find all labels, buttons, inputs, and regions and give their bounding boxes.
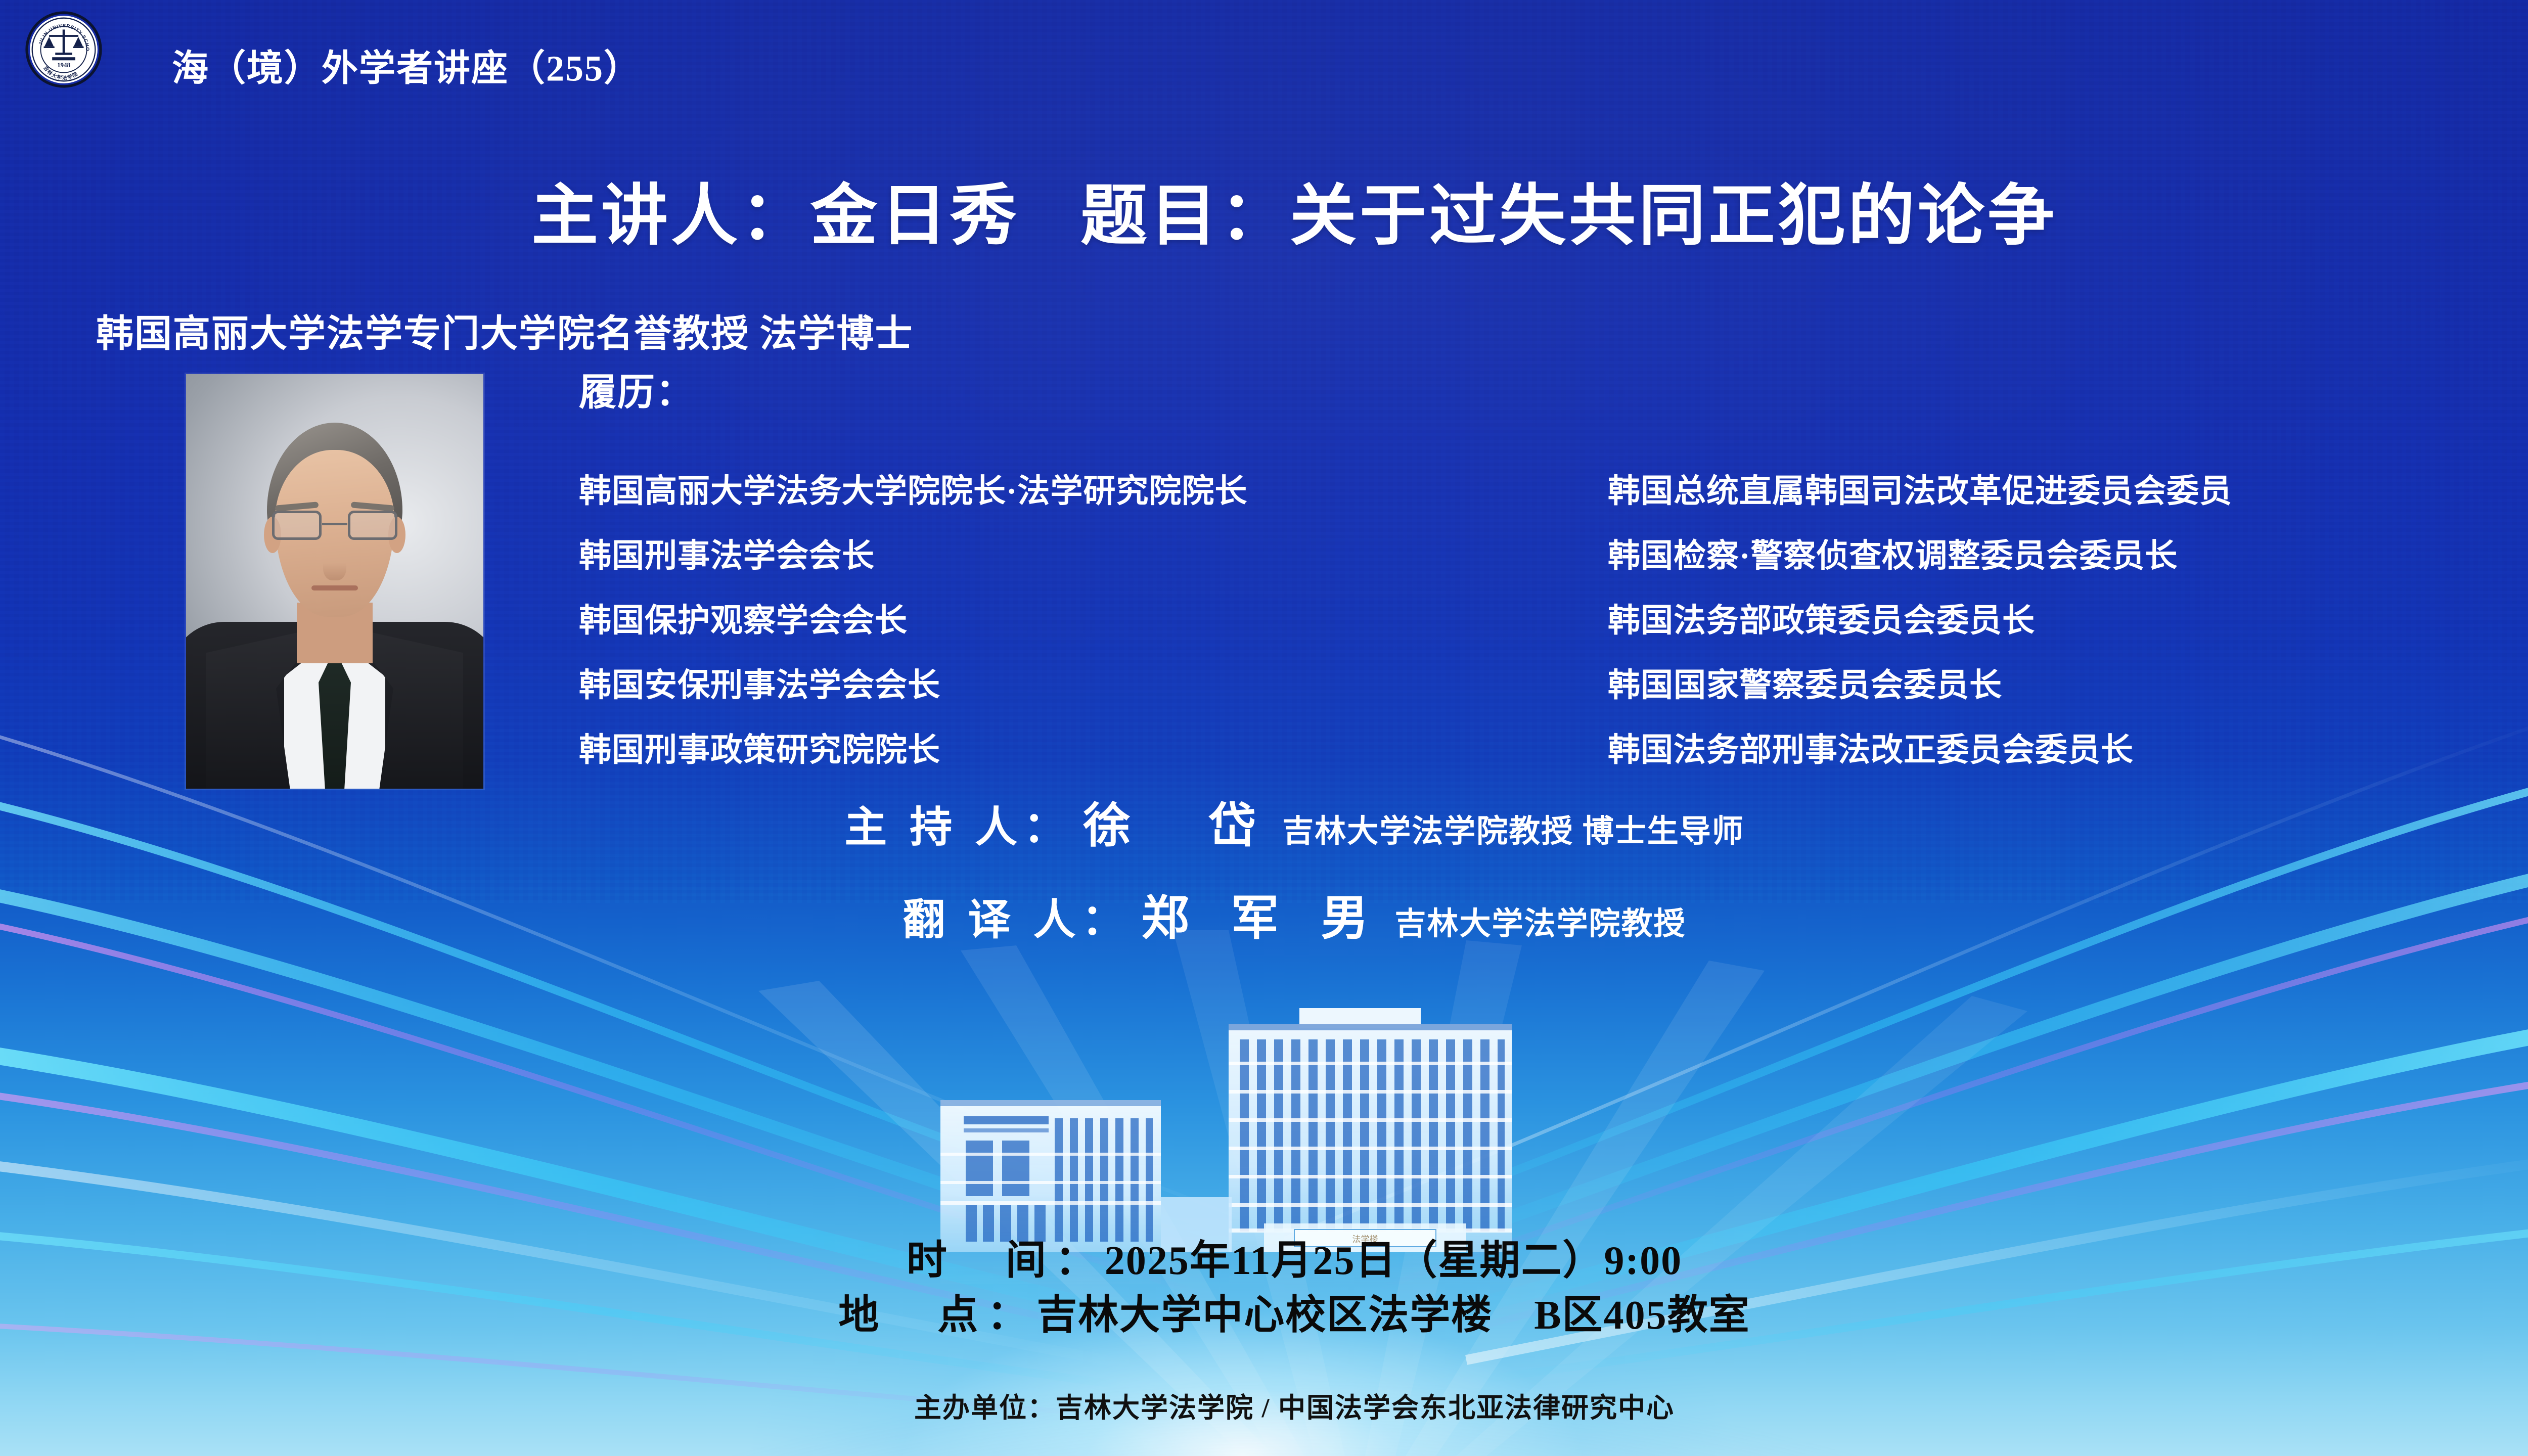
time-label: 时 间： xyxy=(907,1239,1105,1283)
speaker-portrait-photo xyxy=(186,374,483,789)
cv-left-column: 韩国高丽大学法务大学院院长·法学研究院院长 韩国刑事法学会会长 韩国保护观察学会… xyxy=(579,459,1247,783)
translator-label: 翻 译 人： xyxy=(902,897,1130,944)
event-time-line: 时 间：2025年11月25日（星期二）9:00 xyxy=(0,1234,2528,1288)
host-name: 徐 岱 xyxy=(1072,800,1282,852)
translator-affiliation: 吉林大学法学院教授 xyxy=(1395,907,1686,941)
cv-item: 韩国检察·警察侦查权调整委员会委员长 xyxy=(1608,524,2232,588)
translator-row: 翻 译 人：郑 军 男吉林大学法学院教授 xyxy=(0,879,2528,972)
organizer-line: 主办单位：吉林大学法学院 / 中国法学会东北亚法律研究中心 xyxy=(0,1385,2528,1425)
host-row: 主 持 人：徐 岱吉林大学法学院教授 博士生导师 xyxy=(0,787,2528,879)
cv-item: 韩国保护观察学会会长 xyxy=(579,588,1247,653)
speaker-label: 主讲人： xyxy=(531,179,810,253)
place-label: 地 点： xyxy=(838,1293,1036,1338)
translator-name: 郑 军 男 xyxy=(1130,892,1394,945)
svg-text:1948: 1948 xyxy=(57,61,70,69)
cv-item: 韩国高丽大学法务大学院院长·法学研究院院长 xyxy=(579,459,1247,524)
portrait-nose xyxy=(323,551,346,580)
cv-item: 韩国刑事法学会会长 xyxy=(579,524,1247,588)
speaker-affiliation: 韩国高丽大学法学专门大学院名誉教授 法学博士 xyxy=(96,303,914,357)
eyeglasses-icon xyxy=(272,511,397,542)
lecture-series-label: 海（境）外学者讲座（255） xyxy=(172,38,641,92)
cv-item: 韩国国家警察委员会委员长 xyxy=(1608,653,2232,718)
university-seal-logo: JILIN UNIVERSITY SCHOOL OF LAW 吉林大学法学院 1… xyxy=(25,11,102,88)
host-affiliation: 吉林大学法学院教授 博士生导师 xyxy=(1282,814,1744,849)
cv-item: 韩国法务部政策委员会委员长 xyxy=(1608,588,2232,653)
cv-item: 韩国安保刑事法学会会长 xyxy=(579,653,1247,718)
cv-item: 韩国总统直属韩国司法改革促进委员会委员 xyxy=(1608,459,2232,524)
cv-item: 韩国刑事政策研究院院长 xyxy=(579,718,1247,783)
speaker-name: 金日秀 xyxy=(810,179,1020,253)
event-info-block: 时 间：2025年11月25日（星期二）9:00 地 点：吉林大学中心校区法学楼… xyxy=(0,1234,2528,1343)
cv-right-column: 韩国总统直属韩国司法改革促进委员会委员 韩国检察·警察侦查权调整委员会委员长 韩… xyxy=(1608,459,2232,783)
event-place-line: 地 点：吉林大学中心校区法学楼 B区405教室 xyxy=(0,1288,2528,1343)
cv-heading: 履历： xyxy=(579,362,694,416)
roles-block: 主 持 人：徐 岱吉林大学法学院教授 博士生导师 翻 译 人：郑 军 男吉林大学… xyxy=(0,787,2528,972)
cv-item: 韩国法务部刑事法改正委员会委员长 xyxy=(1608,718,2232,783)
host-label: 主 持 人： xyxy=(844,804,1072,851)
topic-text: 关于过失共同正犯的论争 xyxy=(1290,179,2057,253)
place-value: 吉林大学中心校区法学楼 B区405教室 xyxy=(1036,1293,1750,1338)
topic-label: 题目： xyxy=(1080,179,1290,253)
lecture-poster: JILIN UNIVERSITY SCHOOL OF LAW 吉林大学法学院 1… xyxy=(0,0,2528,1456)
portrait-mouth xyxy=(311,585,358,590)
time-value: 2025年11月25日（星期二）9:00 xyxy=(1105,1239,1682,1283)
page-title: 主讲人：金日秀题目：关于过失共同正犯的论争 xyxy=(0,162,2528,258)
